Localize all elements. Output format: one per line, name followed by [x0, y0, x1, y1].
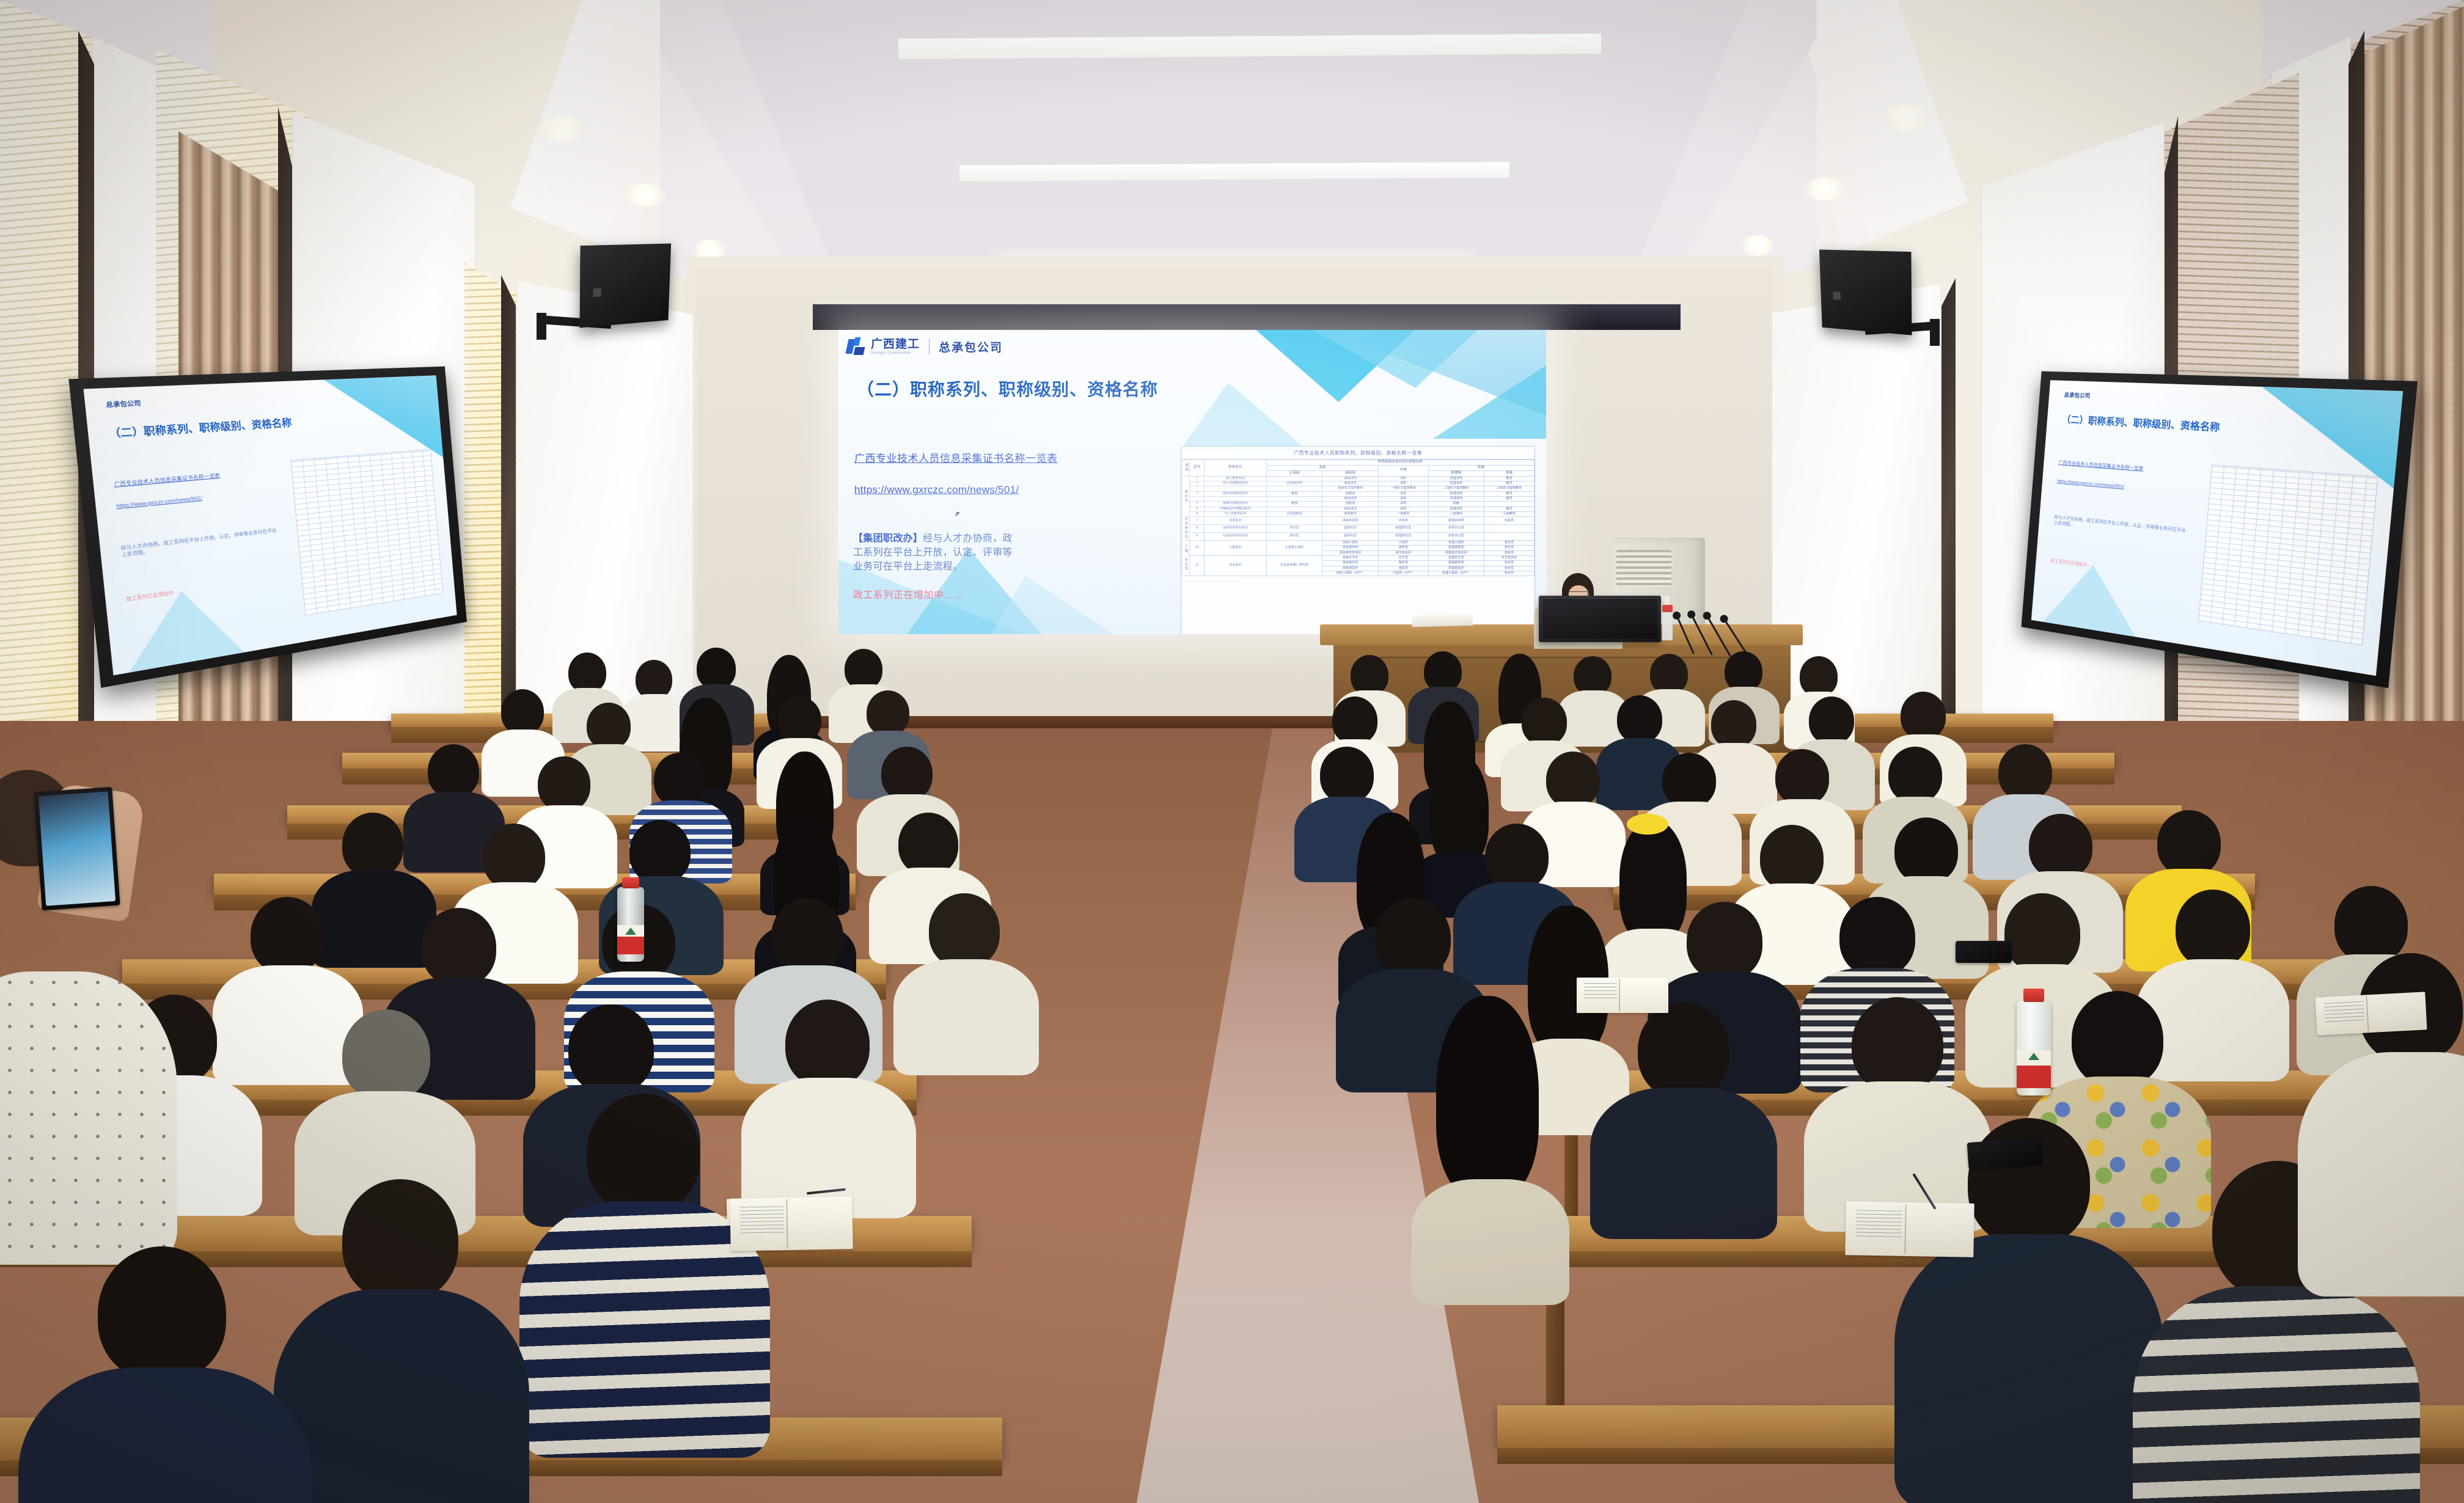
table-row: 一级实习指导教师: [1379, 486, 1429, 491]
table-row: [1484, 525, 1535, 533]
table-row: 高级讲师: [1322, 476, 1379, 481]
table-row: 助理实验师: [1428, 517, 1484, 525]
head: [845, 649, 882, 689]
table-row: 11: [1190, 555, 1204, 576]
head: [2176, 890, 2250, 968]
td-category: 科学研究员: [1182, 517, 1190, 541]
bottle-cap: [622, 877, 639, 888]
table-row: 三级教师: [1484, 511, 1535, 516]
table-row: 助理讲师: [1428, 506, 1484, 511]
head: [654, 753, 705, 806]
notebook: [1845, 1201, 1975, 1257]
mirror-url: https://www.gxrczc.com/news/501/: [2057, 478, 2125, 489]
head: [587, 703, 631, 749]
torso: [274, 1289, 529, 1503]
table-row: 工程师: [1379, 540, 1429, 545]
table-row: 高级实习指导教师: [1322, 486, 1379, 491]
th-senior: 高级: [1266, 465, 1378, 470]
head: [1375, 898, 1451, 978]
table-row: 9: [1190, 532, 1204, 540]
table-row: 技工学校教师系列: [1204, 481, 1267, 486]
slide-url-link[interactable]: https://www.gxrczc.com/news/501/: [854, 484, 1019, 496]
table-row: 教授: [1266, 502, 1322, 506]
th-yuan: 员级: [1484, 470, 1535, 476]
notebook: [730, 1196, 853, 1251]
table-row: 建筑师: [1379, 546, 1429, 550]
head-gray-hair: [342, 1009, 430, 1101]
head: [771, 898, 843, 974]
downlight-icon: [623, 183, 666, 207]
head: [428, 744, 479, 798]
mirror-title: （二）职称系列、职称级别、资格名称: [2062, 412, 2221, 434]
head: [483, 824, 545, 890]
table-row: 技术员: [1484, 540, 1535, 545]
th-junior: 初级: [1428, 465, 1534, 470]
head: [568, 1004, 654, 1094]
table-row: 10: [1190, 540, 1204, 555]
head: [697, 648, 736, 689]
table-row: 实验师: [1379, 517, 1429, 525]
head: [98, 1246, 226, 1381]
table-row: 助教: [1428, 502, 1484, 506]
table-row: 高级建筑师: [1322, 546, 1379, 550]
slide-paragraph: 【集团职改办】经与人才办协商，政工系列在平台上开放，认定、评审等业务可在平台上走…: [853, 532, 1018, 574]
table-row: 助理农艺师: [1428, 555, 1484, 560]
head: [1485, 824, 1549, 890]
torso: [1412, 1179, 1569, 1305]
table-row: 高级兽医师: [1322, 566, 1379, 571]
head: [1852, 997, 1943, 1092]
table-row: 正高级工程师: [1266, 540, 1322, 555]
phone-screen-preview: [38, 791, 116, 906]
mirror-table: [2198, 464, 2378, 645]
table-row: 助理讲师: [1428, 491, 1484, 496]
table-row: 助理建筑师: [1428, 546, 1484, 550]
table-row: [1484, 502, 1535, 506]
table-row: 高级工程师: [1322, 540, 1379, 545]
head: [1809, 697, 1854, 744]
th-category: 类别: [1182, 460, 1190, 477]
head: [1775, 749, 1829, 805]
table-row: 社会科学研究系列: [1204, 532, 1267, 540]
mirror-table: [290, 449, 444, 616]
table-row: 讲师: [1379, 481, 1429, 486]
slide-logo: 广西建工 Guangxi Construction 总承包公司: [847, 337, 1003, 356]
head: [636, 660, 672, 699]
wall-speaker-right: [1819, 249, 1912, 335]
torso: [1590, 1088, 1777, 1239]
slide-paragraph-tag: 【集团职改办】: [853, 533, 923, 544]
table-row: 副教授: [1322, 491, 1379, 496]
mirror-paragraph: 经与人才办协商，政工系列在平台上开放，认定、评审等业务可在平台上走流程。: [120, 527, 280, 560]
table-row: 讲师: [1379, 491, 1429, 496]
table-row: 三级实习指导教师: [1484, 486, 1535, 491]
table-row: 副研究员: [1322, 525, 1379, 533]
slide-decoration-triangle: [991, 576, 1113, 634]
table-row: 畜牧师: [1379, 561, 1429, 566]
wall-speaker-left: [580, 243, 672, 327]
table-row: [1484, 532, 1535, 540]
table-row: 5: [1190, 506, 1204, 511]
table-row: 7: [1190, 517, 1204, 525]
slide-table: 广西专业技术人员职称系列、职称级别、资格名称一览表 类别 序号 职称系列 职称级…: [1181, 446, 1535, 634]
table-row: 教员: [1484, 506, 1535, 511]
table-row: 高级城市规划师: [1322, 550, 1379, 555]
torso: [2298, 1052, 2464, 1296]
table-row: 二级实习指导教师: [1428, 486, 1484, 491]
podium-water-bottle: [1662, 605, 1673, 640]
presentation-slide: 广西建工 Guangxi Construction 总承包公司 （二）职称系列、…: [838, 330, 1546, 634]
downlight-icon: [538, 116, 585, 142]
head: [867, 690, 909, 736]
table-row: 兽医师: [1379, 566, 1429, 571]
hair: [1436, 996, 1539, 1198]
torso: [1894, 1234, 2163, 1503]
table-row: 正高级教师: [1266, 511, 1322, 516]
projection-screen: 广西建工 Guangxi Construction 总承包公司 （二）职称系列、…: [838, 330, 1546, 634]
conference-room-scene: 广西建工 Guangxi Construction 总承包公司 （二）职称系列、…: [0, 0, 2464, 1503]
table-row: [1266, 506, 1322, 511]
head: [1901, 692, 1946, 739]
th-fugao: 副高级: [1322, 470, 1379, 476]
mirror-link: 广西专业技术人员信息采集证书名称一览表: [2058, 459, 2143, 472]
head: [2004, 893, 2080, 973]
table-row: 农业系列: [1204, 555, 1267, 576]
th-zhuli: 助理级: [1428, 470, 1484, 476]
table-row: 副研究员: [1322, 532, 1379, 540]
table-row: 6: [1190, 511, 1204, 516]
table-row: 助理工程师: [1428, 540, 1484, 545]
table-row: 农艺师: [1379, 555, 1429, 560]
table-row: 技术员: [1484, 546, 1535, 550]
head: [1650, 654, 1688, 694]
slide-title: （二）职称系列、职称级别、资格名称: [857, 376, 1158, 401]
head: [1711, 700, 1756, 748]
head: [929, 893, 1000, 968]
table-row: 高级农艺师: [1322, 555, 1379, 560]
head: [777, 697, 821, 743]
table-row: 工程系列: [1204, 540, 1267, 555]
head: [342, 813, 403, 877]
head: [1617, 695, 1662, 743]
th-middle: 中级: [1379, 465, 1429, 476]
table-row: 技术员: [1484, 561, 1535, 566]
head: [2334, 886, 2408, 963]
table-row: 讲师: [1379, 476, 1429, 481]
water-bottle: [617, 887, 644, 962]
table-row: 高级讲师: [1322, 496, 1379, 501]
head: [1839, 897, 1915, 976]
mirror-url: https://www.gxrczc.com/news/501/: [116, 495, 202, 510]
table-row: 教员: [1484, 496, 1535, 501]
table-row: 高级畜牧师: [1322, 561, 1379, 566]
table-row: 助理兽医师: [1428, 566, 1484, 571]
logo-company-name-cn: 广西建工: [871, 338, 920, 350]
table-row: 农艺技术员: [1484, 555, 1535, 560]
head: [1725, 651, 1762, 692]
table-row: 高级实验师: [1322, 517, 1379, 525]
downlight-icon: [1882, 104, 1931, 131]
table-row: 研究实习员: [1428, 532, 1484, 540]
smartphone[interactable]: [1956, 941, 2012, 963]
head: [1574, 656, 1612, 695]
hair: [1619, 820, 1687, 942]
table-row: [1266, 476, 1322, 481]
table-row: 助理讲师: [1428, 496, 1484, 501]
table-row: 助理讲师: [1428, 476, 1484, 481]
slide-table-caption: 广西专业技术人员职称系列、职称级别、资格名称一览表: [1181, 447, 1535, 459]
head: [2072, 991, 2163, 1088]
head: [1760, 825, 1824, 891]
head: [587, 1094, 700, 1213]
table-row: 正高级讲师: [1266, 481, 1322, 486]
table-row: 助理研究员: [1379, 532, 1429, 540]
head: [1662, 753, 1716, 808]
mirror-title: （二）职称系列、职称级别、资格名称: [108, 415, 292, 441]
table-row: 教员: [1484, 491, 1535, 496]
table-row: 助理工程师（水产）: [1428, 571, 1484, 576]
table-row: 技术员: [1484, 566, 1535, 571]
table-row: 自然科学研究系列: [1204, 525, 1267, 533]
table-row: 4: [1190, 502, 1204, 506]
slide-table-grid: 类别 序号 职称系列 职称级别及相对应的资格名称 高级 中级 初级 正高级 副高…: [1181, 459, 1535, 576]
head: [881, 747, 933, 800]
table-row: 技术员: [1484, 550, 1535, 555]
slide-red-note: 政工系列正在增加中……: [853, 587, 964, 601]
torso-striped: [2133, 1286, 2420, 1503]
company-logo-icon: [847, 337, 865, 356]
th-zhenggao: 正高级: [1266, 470, 1322, 476]
bottle-label: [2017, 1050, 2051, 1088]
head: [898, 813, 958, 875]
table-row: 实验员: [1484, 517, 1535, 525]
table-row: 讲师: [1379, 506, 1429, 511]
podium-papers: [1412, 613, 1473, 627]
head: [2157, 810, 2221, 876]
table-row: 讲师: [1379, 496, 1429, 501]
presenter-laptop[interactable]: [1539, 596, 1661, 642]
smartphone[interactable]: [34, 787, 120, 910]
head: [1888, 747, 1942, 803]
th-number: 序号: [1190, 460, 1204, 477]
hair-scrunchie: [1627, 814, 1668, 835]
head: [1332, 697, 1377, 744]
head: [342, 1179, 458, 1301]
downlight-icon: [1739, 235, 1777, 256]
head: [568, 653, 606, 693]
head: [538, 756, 590, 811]
mirror-red-note: 政工系列正在增加中……: [2050, 557, 2095, 569]
table-row: 3: [1190, 491, 1204, 496]
hair: [1430, 755, 1489, 865]
table-row: 高等学校教师系列: [1204, 502, 1267, 506]
table-row: [1266, 517, 1322, 525]
notebook-lines: [1856, 1210, 1902, 1239]
mouse-cursor-icon: [955, 511, 960, 517]
head: [422, 908, 496, 986]
table-row: 1: [1190, 476, 1204, 481]
torso: [312, 870, 436, 968]
slide-decoration-triangle: [1179, 382, 1308, 451]
water-bottle: [2017, 1001, 2051, 1095]
head: [251, 897, 324, 974]
downlight-icon: [1803, 177, 1847, 200]
speaker-port-icon: [593, 288, 602, 297]
bottle-cap: [2023, 989, 2044, 1002]
table-row: 研究员: [1266, 525, 1322, 533]
th-group: 职称级别及相对应的资格名称: [1266, 460, 1534, 466]
logo-divider: [929, 338, 930, 354]
mirror-link: 广西专业技术人员信息采集证书名称一览表: [114, 471, 220, 488]
head: [501, 689, 544, 734]
notebook-lines: [1584, 983, 1617, 1001]
table-row: 高级讲师: [1322, 506, 1379, 511]
td-category: 教学员: [1182, 476, 1190, 517]
head: [1687, 902, 1762, 980]
table-row: 高级教师: [1322, 511, 1379, 516]
notebook: [2315, 992, 2427, 1035]
table-row: 一级教师: [1379, 511, 1429, 516]
table-row: 高校系统教师系列: [1204, 491, 1267, 496]
table-row: 讲师: [1379, 502, 1429, 506]
table-row: 中等职业学校教师系列: [1204, 506, 1267, 511]
table-row: 助理城市规划师: [1428, 550, 1484, 555]
head: [1968, 1118, 2090, 1246]
th-series: 职称系列: [1204, 460, 1267, 477]
mirror-paragraph: 经与人才办协商，政工系列在平台上开放，认定、评审等业务可在平台上走流程。: [2053, 514, 2188, 541]
laptop-lid: [1542, 599, 1657, 638]
slide-document-link[interactable]: 广西专业技术人员信息采集证书名称一览表: [854, 450, 1058, 465]
table-row: 中小学教师系列: [1204, 511, 1267, 516]
head: [1522, 698, 1567, 745]
screen-header-beam: [813, 304, 1681, 330]
head: [785, 1000, 870, 1088]
table-row: 教员: [1484, 481, 1535, 486]
table-row: 教授: [1266, 491, 1322, 496]
head: [1320, 747, 1374, 803]
head: [629, 820, 691, 883]
notebook-lines: [740, 1206, 785, 1234]
logo-company-name-en: Guangxi Construction: [871, 351, 920, 355]
table-row: 助理讲师: [1428, 481, 1484, 486]
table-row: 职工教育系统: [1204, 476, 1267, 481]
torso: [893, 959, 1039, 1075]
table-row: 高级工程师（水产）: [1322, 571, 1379, 576]
table-row: 2: [1190, 481, 1204, 486]
notebook-lines: [2324, 1001, 2364, 1023]
logo-subtitle: 总承包公司: [939, 338, 1003, 355]
table-row: 助理畜牧师: [1428, 561, 1484, 566]
head: [1998, 744, 2052, 800]
head: [1546, 751, 1600, 808]
table-row: 教员: [1484, 476, 1535, 481]
ac-vent-icon: [1616, 550, 1671, 587]
torso: [213, 965, 363, 1085]
table-row: 城市规划师: [1379, 550, 1429, 555]
head: [1351, 655, 1388, 695]
notebook: [1577, 978, 1668, 1013]
smartphone[interactable]: [1967, 1138, 2042, 1169]
table-row: 助理研究员: [1379, 525, 1429, 533]
head: [1424, 651, 1462, 692]
table-row: 工程师（水产）: [1379, 571, 1429, 576]
table-row: 8: [1190, 525, 1204, 533]
head: [1638, 1002, 1729, 1099]
table-row: 技术员: [1484, 571, 1535, 576]
head: [1800, 656, 1838, 697]
head: [2029, 814, 2092, 879]
table-row: 农业技术推广研究员: [1266, 555, 1322, 576]
table-row: 研究实习员: [1428, 525, 1484, 533]
table-row: 研究员: [1266, 532, 1322, 540]
speaker-port-icon: [1833, 291, 1841, 300]
table-row: 副教授: [1322, 502, 1379, 506]
bottle-label: [617, 925, 644, 954]
table-row: 实验系列: [1204, 517, 1267, 525]
table-row: 高级讲师: [1322, 481, 1379, 486]
head: [1894, 817, 1958, 883]
table-row: 二级教师: [1428, 511, 1484, 516]
mirror-logo: 总承包公司: [2064, 390, 2091, 400]
torso-polka-dot: [0, 971, 177, 1265]
mirror-logo: 总承包公司: [106, 398, 142, 409]
td-category: 工程、农业员: [1182, 540, 1190, 576]
